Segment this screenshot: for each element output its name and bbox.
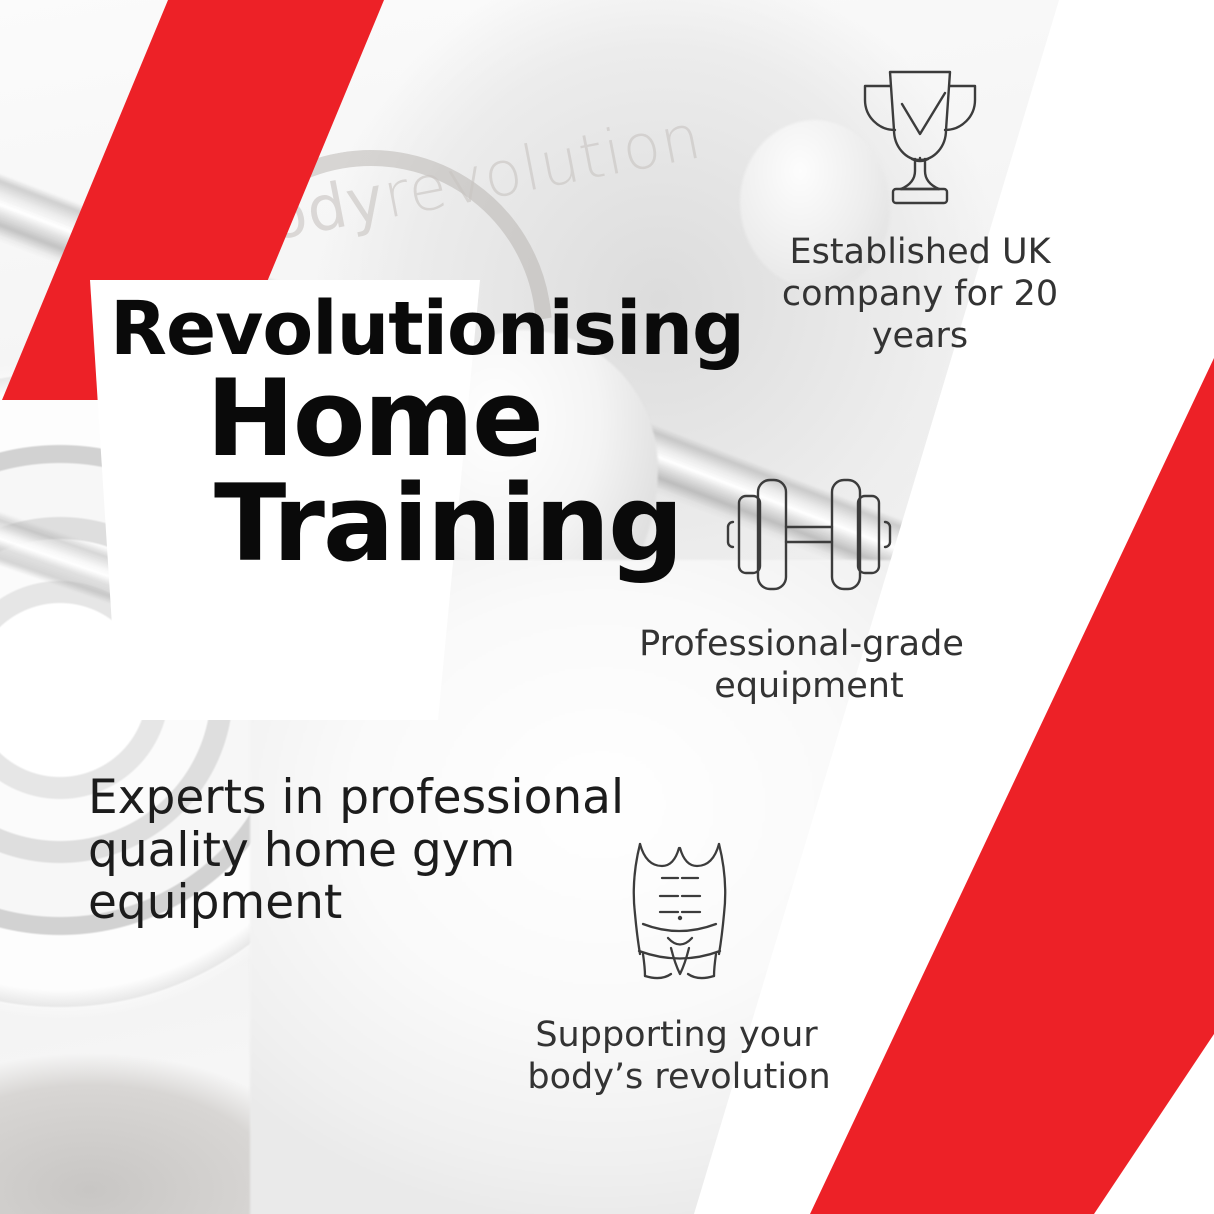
feature-label: Professional-grade equipment — [639, 624, 964, 706]
feature-item-equipment: Professional-grade equipment — [644, 472, 974, 707]
promo-banner: bodyrevolution Revolutionising Home Trai… — [0, 0, 1214, 1214]
feature-label: Established UK company for 20 years — [782, 232, 1058, 356]
feature-item-established: Established UK company for 20 years — [755, 60, 1085, 357]
watermark-brand-secondary: revolution — [377, 99, 707, 232]
dumbbell-icon — [644, 472, 974, 601]
feature-label: Supporting your body’s revolution — [527, 1015, 830, 1097]
trophy-check-icon — [755, 60, 1085, 209]
feature-list: Established UK company for 20 years Prof… — [754, 0, 1214, 1214]
headline-line-2: Home — [206, 368, 750, 471]
headline-line-1: Revolutionising — [110, 294, 750, 366]
feature-item-body: Supporting your body’s revolution — [514, 838, 844, 1098]
torso-abs-icon — [514, 838, 844, 992]
